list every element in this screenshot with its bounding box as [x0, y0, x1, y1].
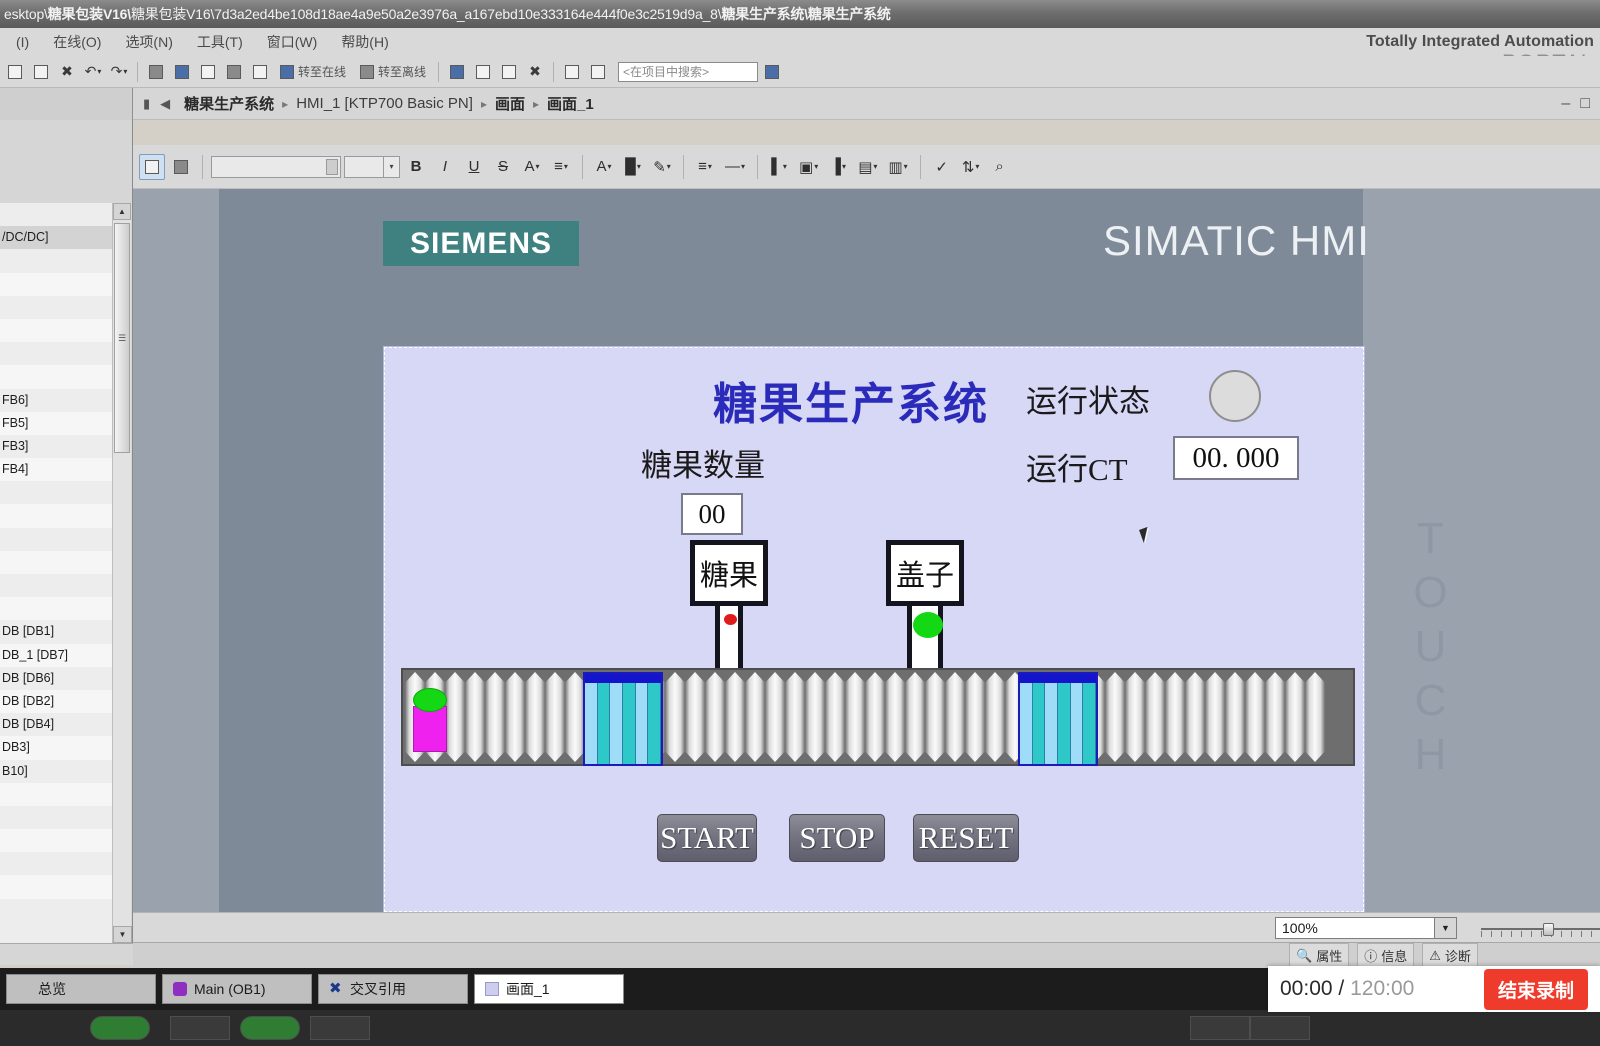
search-run-icon[interactable]: [760, 60, 784, 84]
font-family-select[interactable]: [211, 156, 341, 178]
start-runtime-icon[interactable]: [248, 60, 272, 84]
download-to-device-icon[interactable]: [170, 60, 194, 84]
roller: [825, 672, 845, 762]
fill-color-icon[interactable]: █▾: [620, 154, 646, 180]
distribute-vertical-icon[interactable]: ▥▾: [884, 154, 911, 180]
line-style-icon[interactable]: ≡▾: [692, 154, 718, 180]
conveyor-belt: [401, 668, 1355, 766]
dispenser-lid-label: 盖子: [886, 540, 964, 606]
maximize-icon[interactable]: □: [1580, 95, 1590, 113]
insert-object-icon[interactable]: [168, 154, 194, 180]
italic-button[interactable]: I: [432, 154, 458, 180]
project-tree-row[interactable]: [0, 504, 112, 527]
roller: [845, 672, 865, 762]
os-taskbar-item-2[interactable]: [170, 1016, 230, 1040]
distribute-horizontal-icon[interactable]: ▤▾: [854, 154, 881, 180]
recorder-total: 120:00: [1350, 977, 1414, 1000]
project-tree-row[interactable]: [0, 528, 112, 551]
window-title-bar: esktop\ 糖果包装V16\ 糖果包装V16\7d3a2ed4be108d1…: [0, 0, 1600, 28]
split-vertical-icon[interactable]: [586, 60, 610, 84]
project-tree-row[interactable]: /DC/DC]: [0, 226, 112, 249]
search-icon: 🔍: [1296, 948, 1312, 964]
breadcrumb-sep-3: ▸: [533, 97, 539, 111]
screen-icon: [485, 982, 499, 996]
conveyor-rollers: [405, 672, 1351, 762]
screen-recorder-widget: 00:00 / 120:00 结束录制: [1268, 966, 1600, 1012]
project-tree-panel: /DC/DC]FB6]FB5]FB3]FB4]DB [DB1]DB_1 [DB7…: [0, 120, 133, 965]
back-arrow-icon[interactable]: ◀: [160, 96, 170, 112]
menu-item-0[interactable]: (I): [4, 32, 41, 52]
upload-from-device-icon[interactable]: [196, 60, 220, 84]
project-tree-row[interactable]: DB [DB6]: [0, 667, 112, 690]
pen-color-icon[interactable]: ✎▾: [649, 154, 675, 180]
format-separator-5: [920, 155, 921, 179]
run-state-label: 运行状态: [1026, 376, 1150, 421]
roller: [565, 672, 585, 762]
breadcrumb-sep-2: ▸: [481, 97, 487, 111]
align-center-icon[interactable]: ▣▾: [795, 154, 822, 180]
roller: [765, 672, 785, 762]
paste-icon[interactable]: [29, 60, 53, 84]
touch-label: TOUCH: [1395, 514, 1455, 784]
roller: [1225, 672, 1245, 762]
project-tree-row[interactable]: DB3]: [0, 736, 112, 759]
title-project-2: 糖果生产系统\糖果生产系统: [721, 4, 890, 24]
os-taskbar-item-6[interactable]: [1250, 1016, 1310, 1040]
application-window: esktop\ 糖果包装V16\ 糖果包装V16\7d3a2ed4be108d1…: [0, 0, 1600, 1046]
project-tree-row[interactable]: [0, 875, 112, 898]
diagnostics-icon: ⚠: [1429, 948, 1441, 964]
roller: [885, 672, 905, 762]
breadcrumb-sep-1: ▸: [282, 97, 288, 111]
roller: [925, 672, 945, 762]
breadcrumb-item-project[interactable]: 糖果生产系统: [184, 93, 274, 114]
hmi-screen[interactable]: 糖果生产系统 运行状态 糖果数量 00 运行CT 00. 000 糖果 盖子: [384, 347, 1364, 912]
taskbar-item-cross-reference[interactable]: ✖ 交叉引用: [318, 974, 468, 1004]
scroll-thumb[interactable]: ☰: [114, 223, 130, 453]
hmi-device-frame: SIEMENS SIMATIC HMI TOUCH 糖果生产系统 运行状态 糖果…: [219, 189, 1363, 912]
dispenser-candy-label: 糖果: [690, 540, 768, 606]
screen-editor-canvas[interactable]: SIEMENS SIMATIC HMI TOUCH 糖果生产系统 运行状态 糖果…: [133, 189, 1600, 912]
align-text-button[interactable]: ≡▾: [548, 154, 574, 180]
conveyor-gate-left: [583, 672, 663, 766]
menu-item-online[interactable]: 在线(O): [41, 30, 113, 54]
main-toolbar: ✖ ↶▾ ↷▾ 转至在线 转至离线 ✖ <在项目中搜索>: [0, 56, 1600, 88]
project-tree-row[interactable]: [0, 806, 112, 829]
format-separator-1: [202, 155, 203, 179]
roller: [705, 672, 725, 762]
inspector-tabs: 🔍 属性 ⓘ 信息 ⚠ 诊断: [133, 942, 1600, 968]
zoom-level-value: 100%: [1282, 920, 1318, 936]
project-tree-row[interactable]: DB [DB4]: [0, 713, 112, 736]
candy-count-field[interactable]: 00: [681, 493, 743, 535]
candy-indicator-dot: [724, 614, 737, 625]
start-button[interactable]: START: [657, 814, 757, 862]
project-tree-row[interactable]: FB4]: [0, 458, 112, 481]
project-tree-row[interactable]: [0, 829, 112, 852]
lid-indicator-dot: [913, 612, 943, 638]
step-over-icon[interactable]: [497, 60, 521, 84]
font-size-button[interactable]: A▾: [519, 154, 545, 180]
roller: [1125, 672, 1145, 762]
project-tree[interactable]: /DC/DC]FB6]FB5]FB3]FB4]DB [DB1]DB_1 [DB7…: [0, 203, 112, 943]
toolbar-separator-2: [438, 62, 439, 82]
run-state-indicator: [1209, 370, 1261, 422]
project-tree-row[interactable]: [0, 319, 112, 342]
recorder-separator: /: [1338, 977, 1344, 1000]
zoom-slider-knob[interactable]: [1543, 923, 1554, 936]
zoom-slider[interactable]: [1481, 923, 1600, 935]
title-path-prefix: esktop\: [4, 6, 48, 22]
scroll-down-icon[interactable]: ▼: [113, 926, 132, 943]
project-tree-row[interactable]: DB_1 [DB7]: [0, 644, 112, 667]
candy-jar-body: [413, 706, 447, 752]
recorder-time: 00:00 / 120:00: [1280, 977, 1414, 1001]
project-search-input[interactable]: <在项目中搜索>: [618, 62, 758, 82]
breadcrumb-item-screen-1[interactable]: 画面_1: [547, 93, 594, 114]
project-tree-row[interactable]: [0, 249, 112, 272]
go-online-label: 转至在线: [298, 63, 346, 80]
project-tree-row[interactable]: [0, 597, 112, 620]
info-icon: ⓘ: [1364, 946, 1377, 965]
roller: [445, 672, 465, 762]
table-icon[interactable]: [139, 154, 165, 180]
overview-icon: [17, 982, 31, 996]
project-tree-row[interactable]: [0, 783, 112, 806]
os-taskbar-item-1[interactable]: [90, 1016, 150, 1040]
roller: [1165, 672, 1185, 762]
gate-cap: [1020, 674, 1096, 683]
step-into-icon[interactable]: [471, 60, 495, 84]
project-tree-scrollbar[interactable]: ▲ ☰ ▼: [112, 203, 131, 943]
screen-title: 糖果生产系统: [701, 368, 1001, 432]
roller: [785, 672, 805, 762]
roller: [545, 672, 565, 762]
project-tree-row[interactable]: FB6]: [0, 389, 112, 412]
format-toolbar: ▾ B I U S A▾ ≡▾ A▾ █▾ ✎▾ ≡▾ —▾ ▌▾ ▣▾ ▐▾ …: [133, 145, 1600, 189]
project-tree-row[interactable]: [0, 574, 112, 597]
roller: [1265, 672, 1285, 762]
roller: [465, 672, 485, 762]
os-taskbar-item-5[interactable]: [1190, 1016, 1250, 1040]
roller: [865, 672, 885, 762]
undo-icon[interactable]: ↶▾: [81, 60, 105, 84]
roller: [685, 672, 705, 762]
roller: [965, 672, 985, 762]
project-tree-row[interactable]: DB [DB2]: [0, 690, 112, 713]
bold-button[interactable]: B: [403, 154, 429, 180]
taskbar-item-screen-1[interactable]: 画面_1: [474, 974, 624, 1004]
project-tree-row[interactable]: FB5]: [0, 412, 112, 435]
font-size-select[interactable]: ▾: [344, 156, 400, 178]
project-tree-footer: [0, 943, 133, 965]
editor-status-bar: 100% ▼: [133, 912, 1600, 942]
recorder-elapsed: 00:00: [1280, 977, 1333, 1000]
project-tree-row[interactable]: [0, 342, 112, 365]
roller: [485, 672, 505, 762]
title-project-1: 糖果包装V16\: [48, 4, 131, 24]
format-separator-2: [582, 155, 583, 179]
compile-icon[interactable]: [144, 60, 168, 84]
menu-item-window[interactable]: 窗口(W): [255, 30, 330, 54]
project-tree-row[interactable]: [0, 296, 112, 319]
zoom-level-select[interactable]: 100% ▼: [1275, 917, 1457, 939]
scroll-up-icon[interactable]: ▲: [113, 203, 131, 220]
help-search-icon[interactable]: [445, 60, 469, 84]
dispenser-lid[interactable]: 盖子: [886, 540, 964, 684]
stop-icon[interactable]: ✖: [523, 60, 547, 84]
project-tree-row[interactable]: [0, 365, 112, 388]
tab-info[interactable]: ⓘ 信息: [1357, 943, 1414, 968]
roller: [985, 672, 1005, 762]
breadcrumb-item-device[interactable]: HMI_1 [KTP700 Basic PN]: [296, 95, 473, 112]
stop-button[interactable]: STOP: [789, 814, 885, 862]
tab-properties[interactable]: 🔍 属性: [1289, 943, 1349, 968]
stop-recording-button[interactable]: 结束录制: [1484, 969, 1588, 1010]
project-tree-row[interactable]: [0, 481, 112, 504]
project-tree-row[interactable]: B10]: [0, 760, 112, 783]
cycle-time-field[interactable]: 00. 000: [1173, 436, 1299, 480]
roller: [1185, 672, 1205, 762]
roller: [1285, 672, 1305, 762]
roller: [1205, 672, 1225, 762]
title-project-hash: 糖果包装V16\7d3a2ed4be108d18ae4a9e50a2e3976a…: [131, 4, 721, 24]
os-taskbar-item-4[interactable]: [310, 1016, 370, 1040]
roller: [745, 672, 765, 762]
go-online-icon: [280, 65, 294, 79]
tab-diagnostics[interactable]: ⚠ 诊断: [1422, 943, 1478, 968]
breadcrumb-left-spacer: [0, 88, 133, 120]
taskbar-item-main[interactable]: Main (OB1): [162, 974, 312, 1004]
go-offline-icon: [360, 65, 374, 79]
zoom-fit-icon[interactable]: ⌕: [987, 154, 1013, 180]
roller: [1245, 672, 1265, 762]
fontsize-label: A: [524, 158, 534, 175]
breadcrumb-item-screens[interactable]: 画面: [495, 93, 525, 114]
dispenser-candy[interactable]: 糖果: [690, 540, 768, 684]
project-tree-row[interactable]: [0, 852, 112, 875]
candy-count-label: 糖果数量: [641, 440, 765, 485]
snap-to-grid-icon[interactable]: ✓: [929, 154, 955, 180]
candy-jar: [413, 706, 447, 752]
zoom-slider-ticks: [1481, 931, 1600, 937]
format-separator-4: [757, 155, 758, 179]
redo-icon[interactable]: ↷▾: [107, 60, 131, 84]
roller: [805, 672, 825, 762]
taskbar-item-cross-reference-label: 交叉引用: [350, 979, 406, 999]
align-left-icon[interactable]: ▌▾: [766, 154, 792, 180]
go-offline-button[interactable]: 转至离线: [354, 60, 432, 84]
taskbar-item-screen-1-label: 画面_1: [506, 979, 550, 999]
breadcrumb-nav-controls[interactable]: ▮ ◀: [133, 96, 180, 112]
project-tree-row[interactable]: [0, 203, 112, 226]
line-weight-icon[interactable]: —▾: [721, 154, 749, 180]
window-controls: – □: [1561, 95, 1600, 113]
reset-button[interactable]: RESET: [913, 814, 1019, 862]
cross-reference-icon: ✖: [329, 982, 343, 996]
siemens-logo: SIEMENS: [383, 221, 579, 266]
tab-info-label: 信息: [1381, 946, 1407, 965]
menu-item-tools[interactable]: 工具(T): [185, 30, 255, 54]
reorder-icon[interactable]: ⇅▾: [958, 154, 984, 180]
start-simulation-icon[interactable]: [222, 60, 246, 84]
roller: [1145, 672, 1165, 762]
project-tree-row[interactable]: [0, 551, 112, 574]
bold-label: B: [411, 158, 422, 175]
conveyor-gate-right: [1018, 672, 1098, 766]
strikethrough-button[interactable]: S: [490, 154, 516, 180]
block-icon: [173, 982, 187, 996]
roller: [665, 672, 685, 762]
simatic-hmi-label: SIMATIC HMI: [1103, 217, 1370, 265]
roller: [905, 672, 925, 762]
go-offline-label: 转至离线: [378, 63, 426, 80]
font-color-icon[interactable]: A▾: [591, 154, 617, 180]
os-taskbar: [0, 1010, 1600, 1046]
roller: [1305, 672, 1325, 762]
copy-icon[interactable]: [3, 60, 27, 84]
roller: [525, 672, 545, 762]
menu-item-options[interactable]: 选项(N): [113, 30, 184, 54]
roller: [1105, 672, 1125, 762]
cycle-time-label: 运行CT: [1026, 444, 1128, 489]
tab-properties-label: 属性: [1316, 946, 1342, 965]
taskbar-item-overview[interactable]: 总览: [6, 974, 156, 1004]
tab-diagnostics-label: 诊断: [1445, 946, 1471, 965]
project-tree-row[interactable]: DB [DB1]: [0, 620, 112, 643]
roller: [505, 672, 525, 762]
gate-cap: [585, 674, 661, 683]
toolbar-separator-3: [553, 62, 554, 82]
split-horizontal-icon[interactable]: [560, 60, 584, 84]
hmi-brand-row: SIEMENS SIMATIC HMI: [219, 189, 1363, 319]
menu-item-help[interactable]: 帮助(H): [329, 30, 400, 54]
panel-toggle-icon[interactable]: ▮: [143, 96, 150, 112]
italic-label: I: [443, 158, 447, 175]
format-separator-3: [683, 155, 684, 179]
os-taskbar-item-3[interactable]: [240, 1016, 300, 1040]
taskbar-item-overview-label: 总览: [38, 979, 66, 999]
minimize-icon[interactable]: –: [1561, 95, 1570, 113]
menu-bar: (I) 在线(O) 选项(N) 工具(T) 窗口(W) 帮助(H): [0, 28, 1600, 56]
candy-jar-lid: [413, 688, 447, 712]
zoom-slider-track: [1481, 928, 1600, 930]
breadcrumb-bar: ▮ ◀ 糖果生产系统 ▸ HMI_1 [KTP700 Basic PN] ▸ 画…: [0, 88, 1600, 120]
project-tree-row[interactable]: FB3]: [0, 435, 112, 458]
delete-icon[interactable]: ✖: [55, 60, 79, 84]
align-right-icon[interactable]: ▐▾: [825, 154, 851, 180]
roller: [945, 672, 965, 762]
strike-label: S: [498, 158, 508, 175]
breadcrumb: 糖果生产系统 ▸ HMI_1 [KTP700 Basic PN] ▸ 画面 ▸ …: [180, 93, 594, 114]
underline-label: U: [469, 158, 480, 175]
roller: [725, 672, 745, 762]
chevron-down-icon[interactable]: ▼: [1434, 918, 1456, 938]
toolbar-separator-1: [137, 62, 138, 82]
go-online-button[interactable]: 转至在线: [274, 60, 352, 84]
project-tree-row[interactable]: [0, 273, 112, 296]
taskbar-item-main-label: Main (OB1): [194, 981, 266, 997]
underline-button[interactable]: U: [461, 154, 487, 180]
